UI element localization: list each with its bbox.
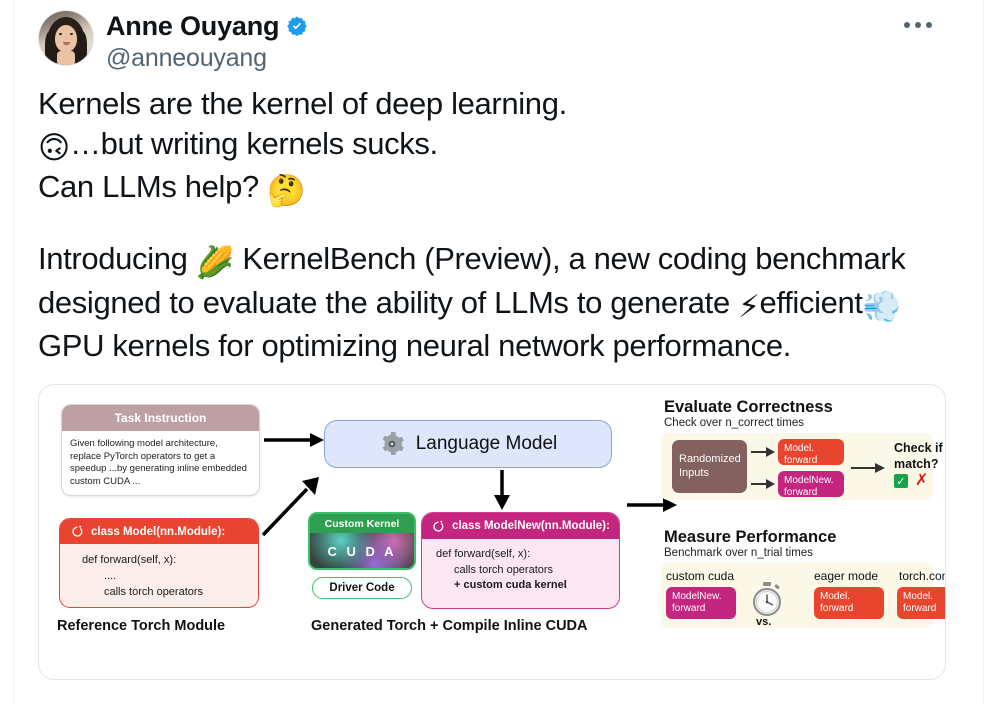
model-new-title: class ModelNew(nn.Module): <box>452 520 610 532</box>
measure-performance-title: Measure Performance <box>664 528 836 547</box>
p2-c: efficient <box>760 285 863 320</box>
author-names: Anne Ouyang @anneouyang <box>106 10 308 72</box>
reference-model-header: class Model(nn.Module): <box>60 519 258 544</box>
cross-mark-icon: ✗ <box>915 473 928 489</box>
display-name: Anne Ouyang <box>106 12 279 40</box>
more-options-icon[interactable] <box>898 16 938 34</box>
check-line-1: Check if <box>894 441 943 457</box>
figure-card[interactable]: Task Instruction Given following model a… <box>38 384 946 680</box>
avatar[interactable] <box>38 10 94 66</box>
randomized-inputs-box: Randomized Inputs <box>672 440 747 493</box>
author-handle: @anneouyang <box>106 45 308 71</box>
left-rail-divider <box>13 0 14 704</box>
reference-model-box: class Model(nn.Module): def forward(self… <box>59 518 259 608</box>
custom-kernel-header: Custom Kernel <box>310 514 414 533</box>
model-new-header: class ModelNew(nn.Module): <box>422 513 619 539</box>
arrow-task-to-lm <box>264 430 324 450</box>
display-name-row[interactable]: Anne Ouyang <box>106 12 308 40</box>
dash-wind-emoji: 💨 <box>863 287 901 327</box>
check-mark-icon: ✓ <box>894 474 908 488</box>
mn-line-3: + custom cuda kernel <box>436 578 619 594</box>
text-line-2: 🙃…but writing kernels sucks. <box>38 124 948 168</box>
tweet-page: Anne Ouyang @anneouyang Kernels are the … <box>0 0 1000 704</box>
text-line-2-label: …but writing kernels sucks. <box>70 126 438 161</box>
vs-label: vs. <box>756 616 771 628</box>
label-eager-mode: eager mode <box>814 569 878 583</box>
tweet-header: Anne Ouyang @anneouyang <box>38 0 948 72</box>
custom-kernel-box: Custom Kernel C U D A <box>308 512 416 570</box>
caption-reference-torch-module: Reference Torch Module <box>57 618 225 634</box>
reference-model-body: def forward(self, x): .... calls torch o… <box>60 544 258 601</box>
tweet-container: Anne Ouyang @anneouyang Kernels are the … <box>38 0 948 680</box>
arrow-inputs-to-model <box>751 445 775 459</box>
ref-line-1: def forward(self, x): <box>82 553 258 569</box>
p2-d: GPU kernels for optimizing neural networ… <box>38 328 791 363</box>
task-instruction-header: Task Instruction <box>62 405 259 431</box>
arrow-inputs-to-modelnew <box>751 477 775 491</box>
corn-emoji: 🌽 <box>196 243 234 283</box>
gear-icon <box>379 431 405 457</box>
ref-line-3: calls torch operators <box>82 585 258 601</box>
caption-generated-torch: Generated Torch + Compile Inline CUDA <box>311 618 587 634</box>
driver-code-pill: Driver Code <box>312 577 412 599</box>
language-model-box: Language Model <box>324 420 612 468</box>
model-forward-box: Model. forward <box>778 439 844 465</box>
right-rail-divider <box>983 0 984 704</box>
check-match-label: Check if match? <box>894 441 943 472</box>
perf-eager-model-forward-box: Model. forward <box>814 587 884 619</box>
pytorch-logo-icon <box>431 519 446 534</box>
cuda-banner: C U D A <box>310 533 414 570</box>
lightning-emoji: ⚡ <box>738 287 759 327</box>
text-line-1: Kernels are the kernel of deep learning. <box>38 84 948 124</box>
label-torch-compile: torch.compile <box>899 569 946 583</box>
check-line-2: match? <box>894 457 943 473</box>
arrow-lm-to-output <box>491 470 513 510</box>
tweet-text: Kernels are the kernel of deep learning.… <box>38 84 948 366</box>
modelnew-forward-box: ModelNew. forward <box>778 471 844 497</box>
evaluate-correctness-title: Evaluate Correctness <box>664 398 833 417</box>
match-marks: ✓ ✗ <box>894 473 928 489</box>
text-line-3-label: Can LLMs help? <box>38 169 259 204</box>
perf-modelnew-forward-box: ModelNew. forward <box>666 587 736 619</box>
task-instruction-body: Given following model architecture, repl… <box>62 431 259 495</box>
thinking-face-emoji: 🤔 <box>267 171 305 211</box>
upside-down-face-emoji: 🙃 <box>38 128 70 168</box>
perf-compile-model-forward-box: Model. forward <box>897 587 946 619</box>
text-paragraph-2: Introducing 🌽 KernelBench (Preview), a n… <box>38 239 948 366</box>
model-new-box: class ModelNew(nn.Module): def forward(s… <box>421 512 620 609</box>
kernelbench-diagram: Task Instruction Given following model a… <box>39 385 945 679</box>
stopwatch-icon <box>749 581 785 617</box>
mn-line-2: calls torch operators <box>436 563 619 579</box>
ref-line-2: .... <box>82 569 258 585</box>
task-instruction-box: Task Instruction Given following model a… <box>61 404 260 496</box>
label-custom-cuda: custom cuda <box>666 569 734 583</box>
arrow-to-check-match <box>851 461 885 475</box>
measure-performance-subtitle: Benchmark over n_trial times <box>664 547 813 559</box>
text-line-3: Can LLMs help? 🤔 <box>38 167 948 211</box>
verified-badge-icon <box>286 15 308 37</box>
p2-a: Introducing <box>38 241 188 276</box>
mn-line-1: def forward(self, x): <box>436 547 619 563</box>
model-new-body: def forward(self, x): calls torch operat… <box>422 539 619 594</box>
reference-model-title: class Model(nn.Module): <box>91 526 225 538</box>
pytorch-logo-icon <box>70 524 85 539</box>
evaluate-correctness-subtitle: Check over n_correct times <box>664 417 804 429</box>
language-model-label: Language Model <box>416 433 558 455</box>
